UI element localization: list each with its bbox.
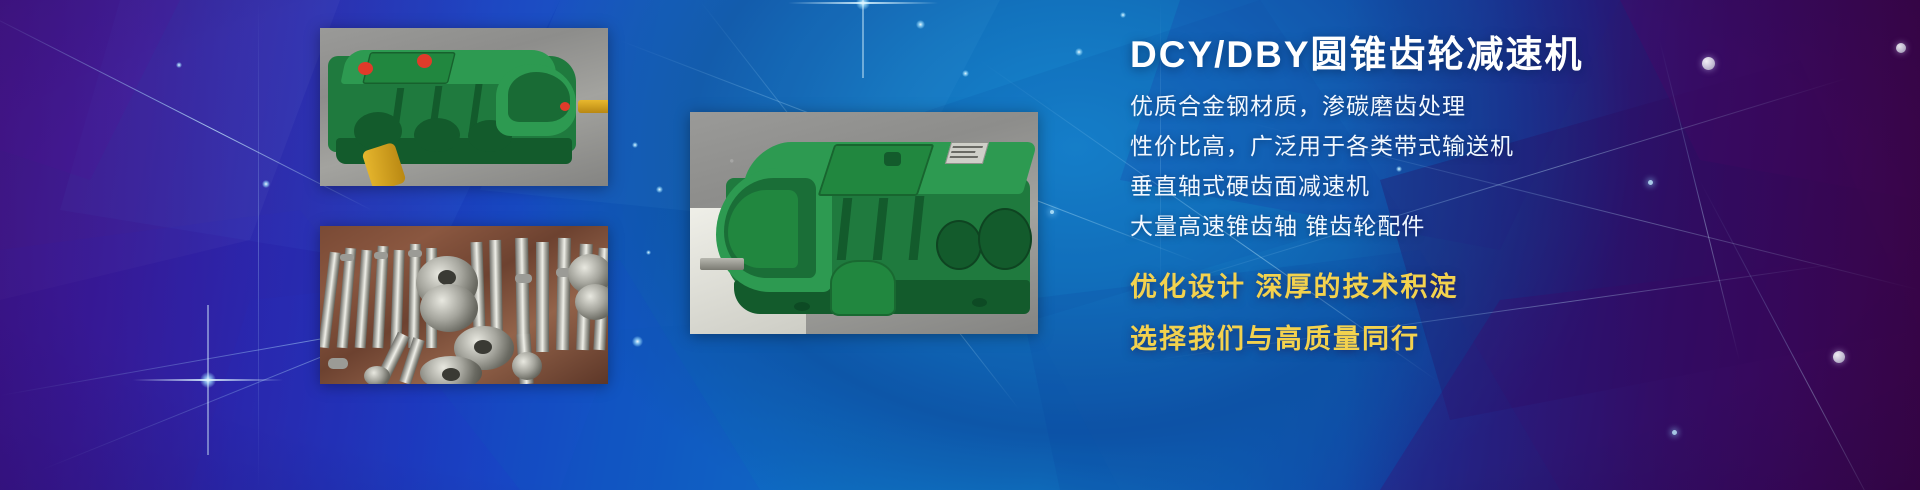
product-nameplate [945, 142, 989, 164]
red-oil-plug [358, 62, 373, 75]
shaft-collar [515, 274, 532, 283]
gear-shaft [515, 238, 530, 344]
slogan-block: 优化设计 深厚的技术积淀 选择我们与高质量同行 [1130, 274, 1830, 353]
sparkle [916, 20, 925, 29]
page-title: DCY/DBY圆锥齿轮减速机 [1130, 36, 1830, 73]
sparkle [262, 180, 270, 188]
inspection-cover [818, 144, 935, 196]
bearing-cover-front [830, 260, 896, 316]
bearing-cover [978, 208, 1032, 270]
product-banner: DCY/DBY圆锥齿轮减速机 优质合金钢材质，渗碳磨齿处理 性价比高，广泛用于各… [0, 0, 1920, 490]
photo-content [320, 226, 608, 384]
bearing-cover [354, 112, 402, 150]
sparkle [632, 142, 638, 148]
sparkle [1120, 12, 1126, 18]
feature-item: 大量高速锥齿轴 锥齿轮配件 [1130, 215, 1830, 238]
breather-plug [884, 152, 901, 166]
product-photo-top-left[interactable] [320, 28, 608, 186]
gear-bore [474, 340, 492, 354]
network-node [1833, 351, 1845, 363]
shaft-collar [408, 250, 422, 257]
bearing-cover [414, 118, 460, 152]
product-photo-bottom-left[interactable] [320, 226, 608, 384]
network-node [1896, 43, 1906, 53]
gear-shaft [489, 240, 503, 336]
sparkle [200, 372, 216, 388]
sparkle [632, 336, 643, 347]
spiral-bevel-gear [420, 284, 478, 332]
slogan-line: 优化设计 深厚的技术积淀 [1130, 274, 1830, 301]
product-photo-center[interactable] [690, 112, 1038, 334]
banner-text-column: DCY/DBY圆锥齿轮减速机 优质合金钢材质，渗碳磨齿处理 性价比高，广泛用于各… [1130, 36, 1830, 378]
gear-shaft [536, 242, 549, 352]
bevel-gear-shroud-highlight [728, 190, 798, 268]
mounting-hole [794, 302, 810, 311]
shaft-collar [328, 358, 348, 369]
gear-wheel [512, 352, 542, 380]
glow-dot [1672, 430, 1677, 435]
sparkle [176, 62, 182, 68]
gear-wheel [364, 366, 390, 384]
sparkle [656, 186, 663, 193]
red-oil-plug [417, 54, 432, 68]
feature-list: 优质合金钢材质，渗碳磨齿处理 性价比高，广泛用于各类带式输送机 垂直轴式硬齿面减… [1130, 95, 1830, 238]
gear-shroud-shadow [508, 72, 570, 122]
gear-shaft [556, 238, 571, 350]
photo-content [320, 28, 608, 186]
light-streak-vertical [258, 0, 259, 490]
red-oil-plug [560, 102, 570, 111]
gear-bore [442, 368, 460, 381]
yellow-shaft-sleeve [578, 100, 608, 113]
gear-bore [438, 270, 456, 285]
slogan-line: 选择我们与高质量同行 [1130, 326, 1830, 353]
feature-item: 垂直轴式硬齿面减速机 [1130, 175, 1830, 198]
sparkle [1075, 48, 1083, 56]
mounting-hole [972, 298, 987, 307]
sparkle [646, 250, 651, 255]
bearing-cover [936, 220, 982, 270]
feature-item: 优质合金钢材质，渗碳磨齿处理 [1130, 95, 1830, 118]
glow-dot [1050, 210, 1054, 214]
photo-content [690, 112, 1038, 334]
shaft-collar [374, 252, 388, 259]
sparkle [962, 70, 969, 77]
feature-item: 性价比高，广泛用于各类带式输送机 [1130, 135, 1830, 158]
inspection-cover [362, 52, 456, 84]
spiral-bevel-gear [575, 284, 608, 320]
shaft-collar [340, 254, 354, 261]
output-shaft [700, 258, 744, 270]
